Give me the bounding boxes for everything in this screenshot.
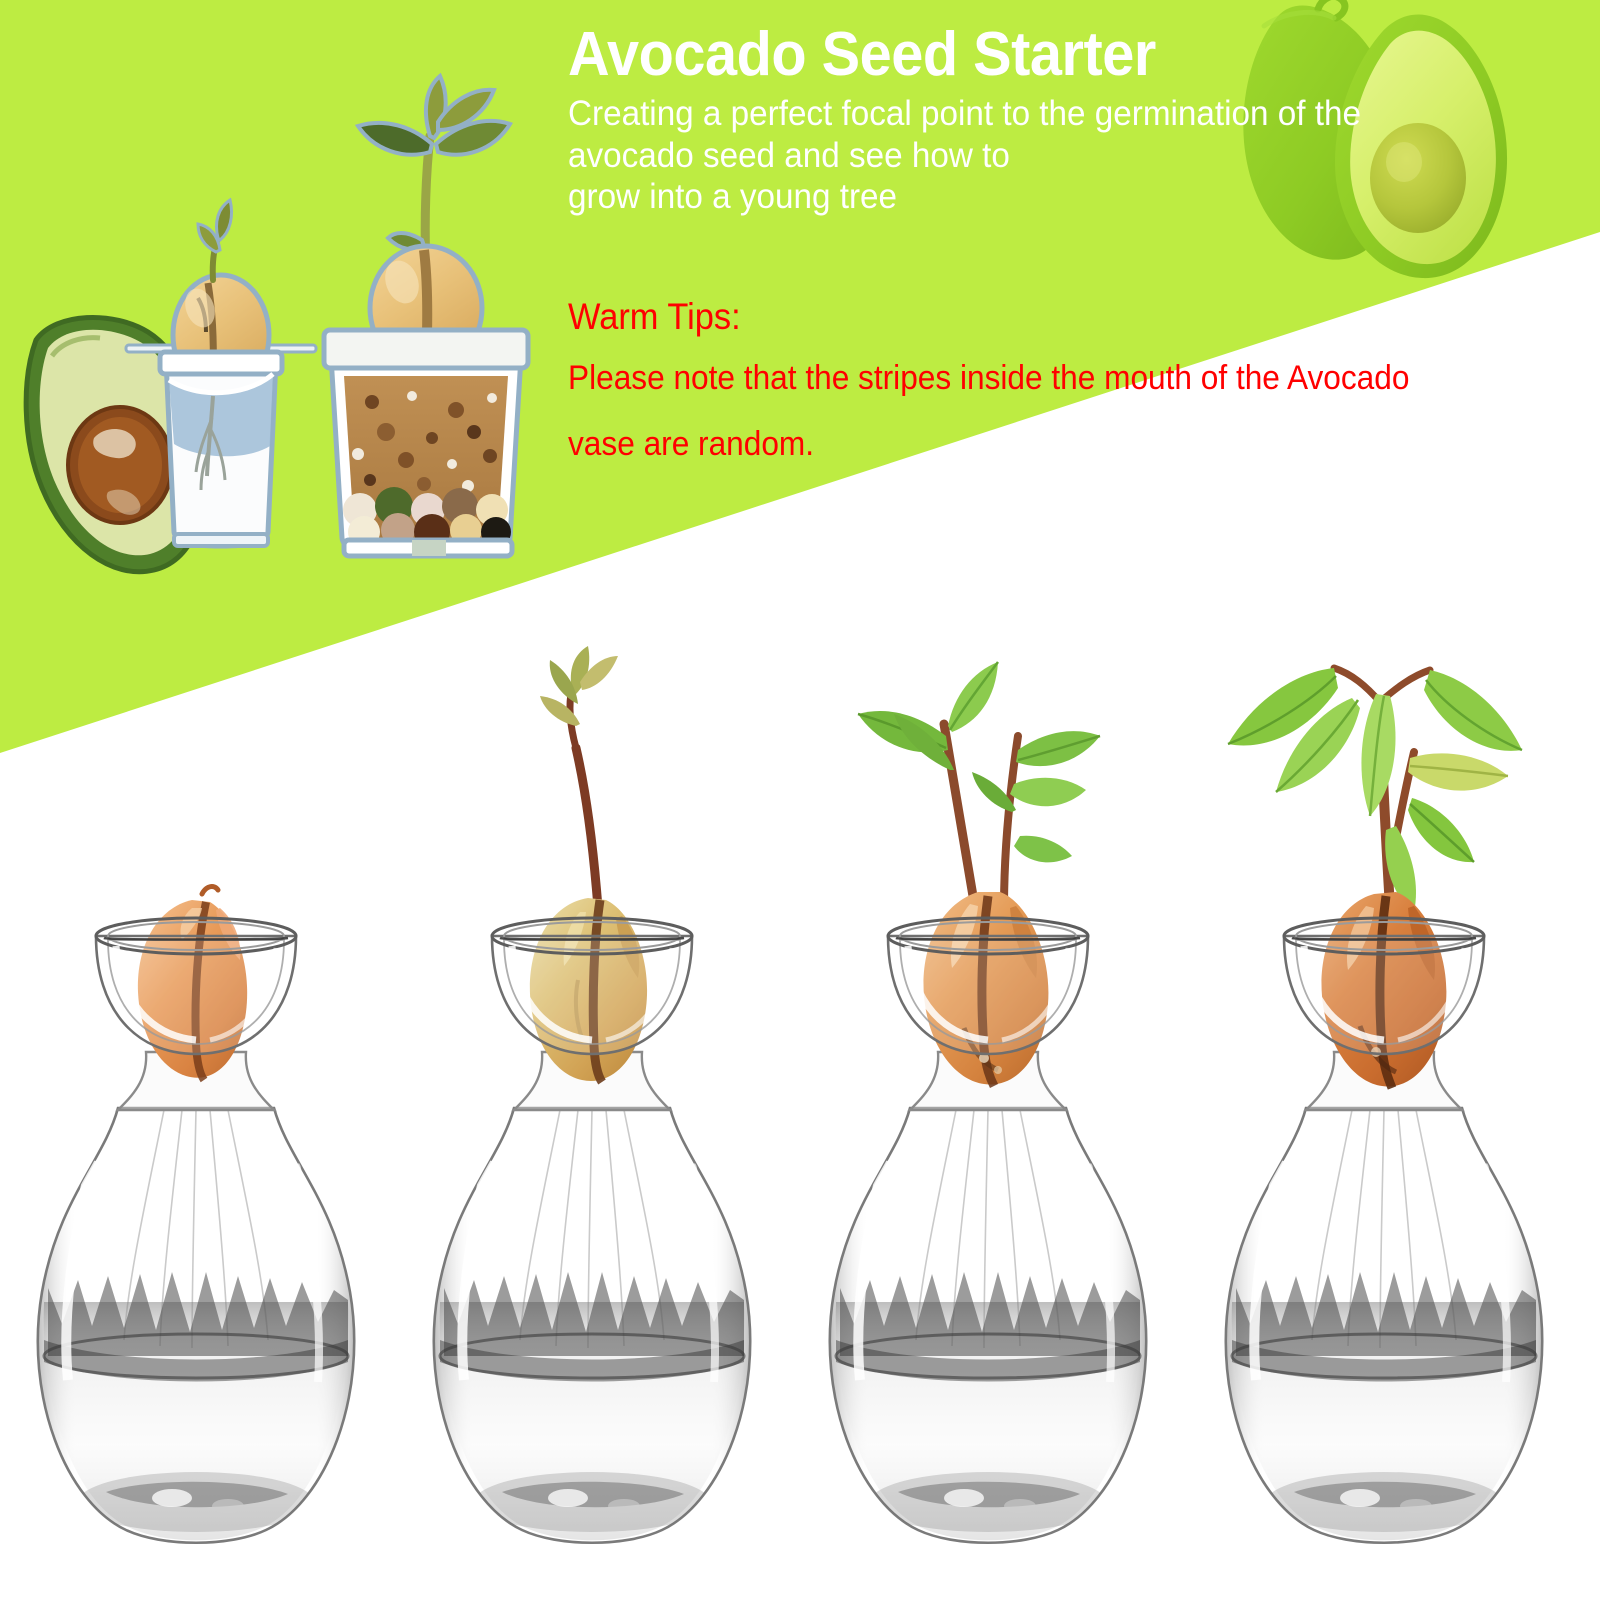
- warm-tips-heading: Warm Tips:: [568, 298, 1409, 335]
- warm-tips-line-2: vase are random.: [568, 427, 1409, 461]
- product-banner-image: Avocado Seed Starter Creating a perfect …: [0, 0, 1600, 1600]
- vase-bowl: [96, 918, 296, 1054]
- header-text-block: Avocado Seed Starter Creating a perfect …: [568, 22, 1448, 218]
- subtitle: Creating a perfect focal point to the ge…: [568, 93, 1404, 218]
- vase-stage-1: [0, 640, 396, 1600]
- vase-bowl: [492, 918, 692, 1054]
- page-title: Avocado Seed Starter: [568, 22, 1386, 87]
- subtitle-line-1: Creating a perfect focal point to the ge…: [568, 93, 1404, 135]
- vase-bowl: [888, 918, 1088, 1054]
- warm-tips-block: Warm Tips: Please note that the stripes …: [568, 298, 1473, 493]
- warm-tips-line-1: Please note that the stripes inside the …: [568, 361, 1409, 395]
- avocado-sprout: [540, 646, 618, 908]
- vase-stage-3: [788, 640, 1188, 1600]
- subtitle-line-2: avocado seed and see how to: [568, 135, 1404, 177]
- vase-bowl: [1284, 918, 1484, 1054]
- vase-stage-2: [392, 640, 792, 1600]
- product-vase-row: [0, 640, 1600, 1600]
- avocado-young-tree: [1228, 668, 1522, 912]
- illustration-pot-with-soil: [324, 76, 528, 556]
- subtitle-line-3: grow into a young tree: [568, 176, 1404, 218]
- vase-stage-4: [1184, 640, 1584, 1600]
- avocado-sprout: [858, 662, 1100, 908]
- germination-illustration: [8, 40, 548, 600]
- warm-tips-body: Please note that the stripes inside the …: [568, 361, 1409, 461]
